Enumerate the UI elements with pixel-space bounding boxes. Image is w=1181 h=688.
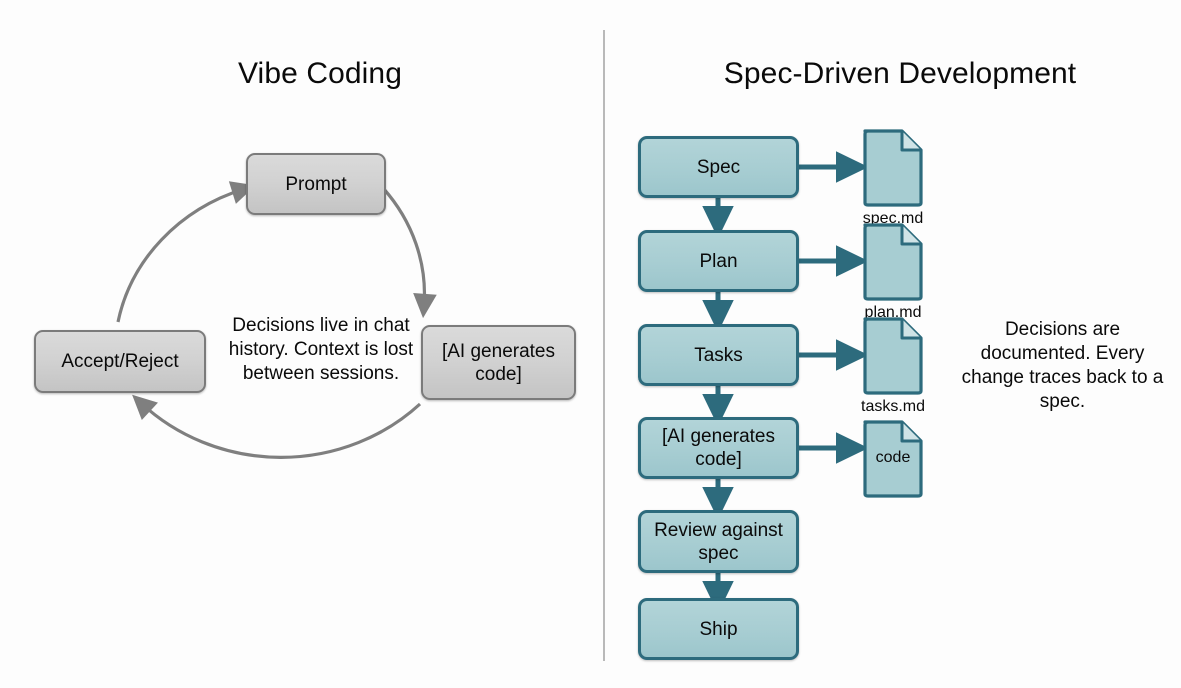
node-ship[interactable]: Ship xyxy=(638,598,799,660)
artifact-plan-md[interactable]: plan.md xyxy=(862,220,924,302)
artifact-tasks-md[interactable]: tasks.md xyxy=(862,314,924,396)
document-icon xyxy=(862,314,924,396)
node-review-against-spec[interactable]: Review against spec xyxy=(638,510,799,573)
panel-divider xyxy=(603,30,605,661)
right-panel-title: Spec-Driven Development xyxy=(700,57,1100,91)
node-prompt[interactable]: Prompt xyxy=(246,153,386,215)
left-panel-note: Decisions live in chat history. Context … xyxy=(226,314,416,386)
arrow-prompt-to-ai xyxy=(383,188,424,306)
arrow-accept-to-prompt xyxy=(118,189,244,322)
artifact-code[interactable]: code xyxy=(862,417,924,499)
artifact-label: tasks.md xyxy=(861,398,925,416)
left-panel-title: Vibe Coding xyxy=(150,57,490,91)
diagram-canvas: Vibe Coding Spec-Driven Development xyxy=(0,0,1181,688)
right-panel-note: Decisions are documented. Every change t… xyxy=(955,318,1170,414)
node-ai-generates-code-right[interactable]: [AI generates code] xyxy=(638,417,799,479)
artifact-label: code xyxy=(862,417,924,499)
node-ai-generates-code-left[interactable]: [AI generates code] xyxy=(421,325,576,400)
node-accept-reject[interactable]: Accept/Reject xyxy=(34,330,206,393)
node-plan[interactable]: Plan xyxy=(638,230,799,292)
node-tasks[interactable]: Tasks xyxy=(638,324,799,386)
document-icon xyxy=(862,126,924,208)
node-spec[interactable]: Spec xyxy=(638,136,799,198)
document-icon xyxy=(862,220,924,302)
arrow-ai-to-accept xyxy=(141,403,420,457)
artifact-spec-md[interactable]: spec.md xyxy=(862,126,924,208)
